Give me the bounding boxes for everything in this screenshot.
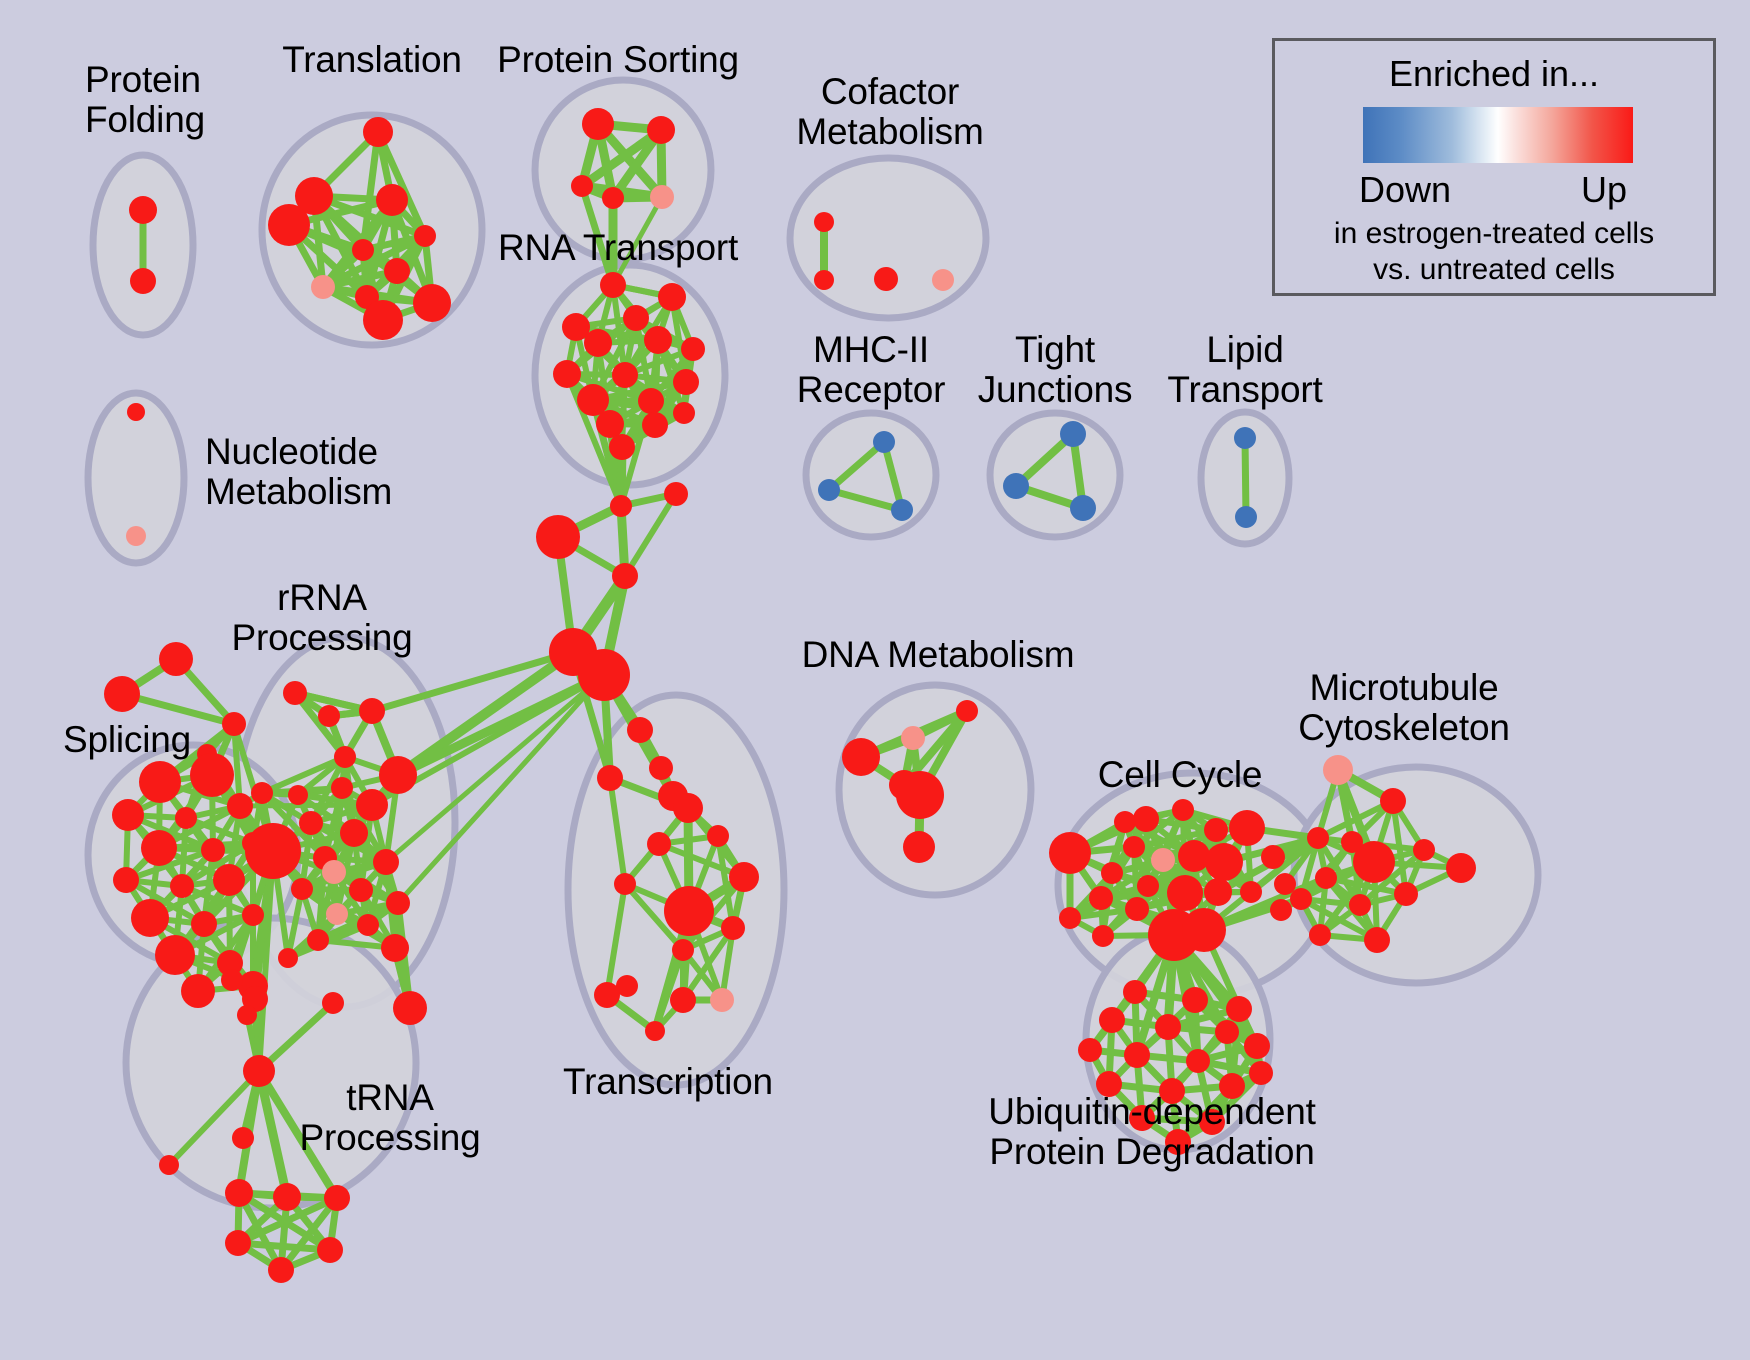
network-node[interactable] [349, 878, 373, 902]
network-node[interactable] [1099, 1007, 1125, 1033]
network-node[interactable] [1078, 1038, 1102, 1062]
network-node[interactable] [903, 831, 935, 863]
network-node[interactable] [814, 270, 834, 290]
network-node[interactable] [536, 515, 580, 559]
network-node[interactable] [707, 825, 729, 847]
network-node[interactable] [1290, 888, 1312, 910]
network-node[interactable] [956, 700, 978, 722]
network-node[interactable] [1315, 867, 1337, 889]
network-node[interactable] [1413, 839, 1435, 861]
network-node[interactable] [1349, 894, 1371, 916]
network-node[interactable] [181, 974, 215, 1008]
network-node[interactable] [379, 756, 417, 794]
legend-panel: Enriched in... Down Up in estrogen-treat… [1272, 38, 1716, 296]
network-node[interactable] [1323, 755, 1353, 785]
network-node[interactable] [842, 738, 880, 776]
network-node[interactable] [664, 886, 714, 936]
cluster-label-mhc-ii-receptor: MHC-II Receptor [797, 330, 946, 410]
cluster-label-microtubule-cytoskeleton: Microtubule Cytoskeleton [1298, 668, 1510, 748]
network-node[interactable] [627, 717, 653, 743]
network-node[interactable] [1205, 843, 1243, 881]
network-node[interactable] [873, 431, 895, 453]
cluster-label-splicing: Splicing [63, 720, 191, 760]
network-node[interactable] [268, 1257, 294, 1283]
network-node[interactable] [1124, 1042, 1150, 1068]
network-node[interactable] [414, 225, 436, 247]
network-node[interactable] [594, 982, 620, 1008]
network-node[interactable] [1167, 875, 1203, 911]
cluster-label-translation: Translation [282, 40, 461, 80]
network-node[interactable] [1261, 845, 1285, 869]
network-node[interactable] [1070, 495, 1096, 521]
network-node[interactable] [577, 384, 609, 416]
network-node[interactable] [673, 793, 703, 823]
cluster-label-tight-junctions: Tight Junctions [978, 330, 1133, 410]
network-node[interactable] [1249, 1061, 1273, 1085]
network-node[interactable] [291, 878, 313, 900]
network-node[interactable] [1155, 1014, 1181, 1040]
network-node[interactable] [1186, 1049, 1210, 1073]
network-node[interactable] [1446, 853, 1476, 883]
cluster-label-lipid-transport: Lipid Transport [1167, 330, 1322, 410]
network-node[interactable] [251, 782, 273, 804]
network-node[interactable] [1089, 886, 1113, 910]
network-node[interactable] [232, 1127, 254, 1149]
network-node[interactable] [1092, 925, 1114, 947]
network-node[interactable] [874, 267, 898, 291]
network-node[interactable] [311, 275, 335, 299]
network-node[interactable] [1182, 987, 1208, 1013]
network-node[interactable] [322, 992, 344, 1014]
network-node[interactable] [170, 874, 194, 898]
network-node[interactable] [130, 268, 156, 294]
network-node[interactable] [1003, 473, 1029, 499]
network-node[interactable] [1114, 811, 1136, 833]
network-node[interactable] [326, 903, 348, 925]
network-node[interactable] [268, 204, 310, 246]
network-node[interactable] [814, 212, 834, 232]
network-node[interactable] [1060, 421, 1086, 447]
network-node[interactable] [721, 916, 745, 940]
network-node[interactable] [222, 712, 246, 736]
network-node[interactable] [642, 412, 668, 438]
network-node[interactable] [363, 300, 403, 340]
legend-subtitle-line-1: in estrogen-treated cells [1275, 217, 1713, 251]
network-node[interactable] [331, 777, 353, 799]
network-node[interactable] [596, 410, 624, 438]
network-node[interactable] [650, 185, 674, 209]
network-node[interactable] [131, 899, 169, 937]
network-node[interactable] [242, 904, 264, 926]
network-node[interactable] [1307, 827, 1329, 849]
network-node[interactable] [245, 823, 301, 879]
network-node[interactable] [322, 860, 346, 884]
network-node[interactable] [710, 988, 734, 1012]
network-node[interactable] [673, 369, 699, 395]
network-figure: Protein FoldingTranslationProtein Sortin… [0, 0, 1750, 1360]
cluster-label-rna-transport: RNA Transport [498, 228, 738, 268]
network-node[interactable] [1133, 806, 1159, 832]
cluster-hull-mhc-ii-receptor [806, 413, 936, 537]
network-node[interactable] [126, 526, 146, 546]
network-node[interactable] [1137, 875, 1159, 897]
network-node[interactable] [1240, 881, 1262, 903]
network-node[interactable] [1172, 799, 1194, 821]
network-node[interactable] [190, 753, 234, 797]
network-node[interactable] [602, 187, 624, 209]
network-node[interactable] [649, 756, 673, 780]
network-node[interactable] [1353, 841, 1395, 883]
legend-down-label: Down [1359, 169, 1451, 211]
network-node[interactable] [597, 765, 623, 791]
network-node[interactable] [1123, 980, 1147, 1004]
network-node[interactable] [670, 987, 696, 1013]
network-node[interactable] [658, 283, 686, 311]
network-node[interactable] [1229, 810, 1265, 846]
cluster-label-cell-cycle: Cell Cycle [1098, 755, 1263, 795]
network-node[interactable] [283, 681, 307, 705]
network-node[interactable] [159, 642, 193, 676]
network-node[interactable] [340, 819, 368, 847]
network-node[interactable] [1125, 897, 1149, 921]
network-node[interactable] [729, 862, 759, 892]
network-node[interactable] [1226, 996, 1252, 1022]
legend-subtitle-line-2: vs. untreated cells [1275, 253, 1713, 287]
network-node[interactable] [159, 1155, 179, 1175]
network-node[interactable] [614, 873, 636, 895]
legend-up-label: Up [1581, 169, 1627, 211]
network-node[interactable] [1123, 836, 1145, 858]
network-node[interactable] [1151, 848, 1175, 872]
network-node[interactable] [225, 1230, 251, 1256]
network-node[interactable] [237, 1005, 257, 1025]
network-node[interactable] [571, 175, 593, 197]
network-node[interactable] [1049, 832, 1091, 874]
network-node[interactable] [664, 482, 688, 506]
network-node[interactable] [381, 934, 409, 962]
network-node[interactable] [1364, 927, 1390, 953]
network-node[interactable] [610, 495, 632, 517]
network-node[interactable] [359, 698, 385, 724]
network-node[interactable] [318, 705, 340, 727]
network-node[interactable] [129, 196, 157, 224]
legend-title: Enriched in... [1275, 53, 1713, 95]
network-node[interactable] [578, 649, 630, 701]
network-node[interactable] [324, 1185, 350, 1211]
network-node[interactable] [288, 785, 308, 805]
cluster-hull-cofactor-metabolism [790, 158, 986, 318]
network-node[interactable] [932, 269, 954, 291]
network-node[interactable] [553, 360, 581, 388]
network-node[interactable] [1204, 878, 1232, 906]
network-node[interactable] [584, 329, 612, 357]
network-node[interactable] [644, 326, 672, 354]
network-node[interactable] [896, 771, 944, 819]
network-node[interactable] [113, 867, 139, 893]
network-node[interactable] [1178, 840, 1210, 872]
network-node[interactable] [1215, 1020, 1239, 1044]
network-node[interactable] [647, 116, 675, 144]
network-node[interactable] [673, 402, 695, 424]
cluster-label-dna-metabolism: DNA Metabolism [802, 635, 1075, 675]
network-node[interactable] [672, 939, 694, 961]
network-node[interactable] [1274, 873, 1296, 895]
network-node[interactable] [1380, 788, 1406, 814]
network-node[interactable] [317, 1237, 343, 1263]
network-node[interactable] [201, 838, 225, 862]
network-node[interactable] [645, 1021, 665, 1041]
network-node[interactable] [373, 849, 399, 875]
network-node[interactable] [357, 914, 379, 936]
network-node[interactable] [612, 563, 638, 589]
network-node[interactable] [243, 1055, 275, 1087]
network-node[interactable] [384, 258, 410, 284]
cluster-label-protein-folding: Protein Folding [85, 60, 205, 140]
legend-color-gradient-bar [1363, 107, 1633, 163]
network-node[interactable] [112, 799, 144, 831]
network-node[interactable] [225, 1179, 253, 1207]
network-node[interactable] [141, 830, 177, 866]
network-node[interactable] [273, 1183, 301, 1211]
network-node[interactable] [612, 362, 638, 388]
edge [1245, 438, 1246, 517]
cluster-label-rrna-processing: rRNA Processing [231, 578, 412, 658]
network-node[interactable] [1059, 907, 1081, 929]
network-node[interactable] [413, 284, 451, 322]
network-node[interactable] [352, 239, 374, 261]
network-node[interactable] [363, 117, 393, 147]
network-node[interactable] [600, 272, 626, 298]
network-node[interactable] [191, 911, 217, 937]
network-node[interactable] [227, 793, 253, 819]
cluster-label-transcription: Transcription [563, 1062, 773, 1102]
network-node[interactable] [376, 184, 408, 216]
network-node[interactable] [393, 991, 427, 1025]
network-node[interactable] [1394, 882, 1418, 906]
network-node[interactable] [386, 891, 410, 915]
network-node[interactable] [356, 789, 388, 821]
network-node[interactable] [623, 305, 649, 331]
network-node[interactable] [681, 337, 705, 361]
network-node[interactable] [582, 108, 614, 140]
network-node[interactable] [609, 434, 635, 460]
network-node[interactable] [307, 929, 329, 951]
network-node[interactable] [175, 807, 197, 829]
cluster-label-trna-processing: tRNA Processing [299, 1078, 480, 1158]
network-node[interactable] [155, 935, 195, 975]
network-node[interactable] [1244, 1033, 1270, 1059]
network-node[interactable] [1309, 924, 1331, 946]
cluster-label-protein-sorting: Protein Sorting [497, 40, 739, 80]
cluster-label-ubiquitin-protein-degradation: Ubiquitin-dependent Protein Degradation [988, 1092, 1315, 1172]
network-node[interactable] [647, 832, 671, 856]
network-node[interactable] [104, 676, 140, 712]
network-node[interactable] [1234, 427, 1256, 449]
network-node[interactable] [818, 479, 840, 501]
network-node[interactable] [1270, 899, 1292, 921]
network-node[interactable] [1182, 908, 1226, 952]
network-node[interactable] [334, 746, 356, 768]
network-node[interactable] [1235, 506, 1257, 528]
cluster-label-nucleotide-metabolism: Nucleotide Metabolism [205, 432, 392, 512]
network-node[interactable] [1204, 818, 1228, 842]
network-node[interactable] [299, 811, 323, 835]
network-node[interactable] [221, 969, 243, 991]
network-node[interactable] [901, 726, 925, 750]
network-node[interactable] [127, 403, 145, 421]
network-node[interactable] [891, 499, 913, 521]
network-node[interactable] [139, 761, 181, 803]
network-node[interactable] [213, 864, 245, 896]
network-node[interactable] [638, 388, 664, 414]
network-node[interactable] [278, 948, 298, 968]
cluster-label-cofactor-metabolism: Cofactor Metabolism [796, 72, 983, 152]
network-node[interactable] [1101, 862, 1123, 884]
